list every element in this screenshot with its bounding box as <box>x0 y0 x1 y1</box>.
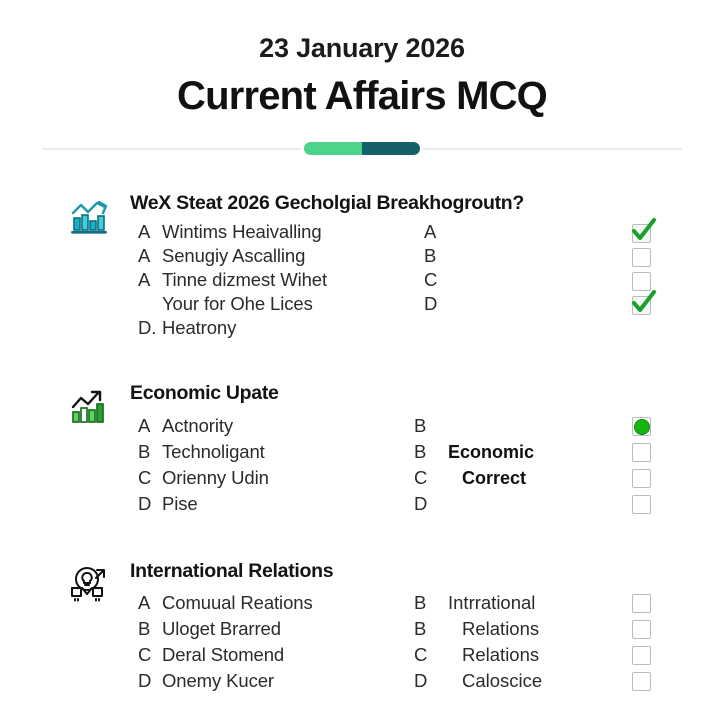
questions-list: WeX Steat 2026 Gecholgial Breakhogroutn?… <box>0 192 724 695</box>
answer-letter: B <box>414 439 448 465</box>
answer-row: C Relations <box>414 642 632 668</box>
growth-arrow-bars-icon <box>66 384 112 430</box>
option-row[interactable]: D Pise <box>138 491 408 517</box>
checkbox-row[interactable] <box>632 293 676 317</box>
option-row[interactable]: B Uloget Brarred <box>138 616 408 642</box>
option-text: Your for Ohe Lices <box>162 292 313 316</box>
option-row[interactable]: A Tinne dizmest Wihet <box>138 268 418 292</box>
answer-letter: B <box>414 413 448 439</box>
answer-checkbox-a[interactable] <box>632 594 651 613</box>
answer-checkbox-d[interactable] <box>632 495 651 514</box>
checkbox-row[interactable] <box>632 414 676 440</box>
option-text: Uloget Brarred <box>162 616 281 642</box>
answer-row: B <box>424 244 632 268</box>
answer-note: Relations <box>448 642 539 668</box>
question-block-3: International Relations A Comuual Reatio… <box>62 560 676 695</box>
answer-checkboxes <box>632 413 676 518</box>
option-letter: C <box>138 465 162 491</box>
checkbox-row[interactable] <box>632 617 676 643</box>
answer-letter: B <box>424 244 458 268</box>
answer-row: B Relations <box>414 616 632 642</box>
answer-checkboxes <box>632 220 676 340</box>
option-letter: A <box>138 220 162 244</box>
check-icon <box>630 216 658 244</box>
answer-checkbox-b[interactable] <box>632 443 651 462</box>
answer-row: D Caloscice <box>414 668 632 694</box>
option-letter: A <box>138 244 162 268</box>
option-text: Actnority <box>162 413 233 439</box>
option-letter: D <box>138 491 162 517</box>
page-date: 23 January 2026 <box>0 34 724 64</box>
checkbox-row[interactable] <box>632 221 676 245</box>
question-title: International Relations <box>130 560 676 582</box>
answer-row: C Correct <box>414 465 632 491</box>
global-idea-handshake-icon <box>66 562 112 608</box>
option-letter: D. <box>138 316 162 340</box>
question-title: Economic Upate <box>130 382 676 404</box>
checkbox-row[interactable] <box>632 643 676 669</box>
question-options: A Actnority B Technoligant C Orienny Udi… <box>130 413 408 518</box>
page-title: Current Affairs MCQ <box>0 74 724 118</box>
option-text: Onemy Kucer <box>162 668 274 694</box>
option-text: Comuual Reations <box>162 590 313 616</box>
option-row[interactable]: A Actnority <box>138 413 408 439</box>
answer-row: B Economic <box>414 439 632 465</box>
option-text: Senugiy Ascalling <box>162 244 305 268</box>
answer-checkbox-b[interactable] <box>632 620 651 639</box>
option-text: Heatrony <box>162 316 236 340</box>
answer-note: Caloscice <box>448 668 542 694</box>
answer-letter: C <box>414 642 448 668</box>
question-block-1: WeX Steat 2026 Gecholgial Breakhogroutn?… <box>62 192 676 340</box>
option-row[interactable]: D Onemy Kucer <box>138 668 408 694</box>
option-text: Deral Stomend <box>162 642 284 668</box>
option-letter: B <box>138 616 162 642</box>
option-letter: D <box>138 668 162 694</box>
option-row[interactable]: A Comuual Reations <box>138 590 408 616</box>
option-row[interactable]: A Senugiy Ascalling <box>138 244 418 268</box>
option-letter: A <box>138 590 162 616</box>
answer-note: Economic <box>448 439 534 465</box>
answer-row: D <box>414 491 632 517</box>
question-body: A Actnority B Technoligant C Orienny Udi… <box>130 413 676 518</box>
answer-checkbox-b[interactable] <box>632 248 651 267</box>
page-header: 23 January 2026 Current Affairs MCQ <box>0 0 724 118</box>
option-text: Tinne dizmest Wihet <box>162 268 327 292</box>
option-row[interactable]: Your for Ohe Lices <box>138 292 418 316</box>
answer-row: B Intrrational <box>414 590 632 616</box>
answer-letter: D <box>414 668 448 694</box>
option-letter: C <box>138 642 162 668</box>
bar-chart-growth-icon <box>66 194 112 240</box>
question-options: A Wintims Heaivalling A Senugiy Ascallin… <box>130 220 418 340</box>
question-body: A Comuual Reations B Uloget Brarred C De… <box>130 590 676 695</box>
answer-row: C <box>424 268 632 292</box>
option-letter: A <box>138 413 162 439</box>
answer-letter: C <box>414 465 448 491</box>
question-body: A Wintims Heaivalling A Senugiy Ascallin… <box>130 220 676 340</box>
checkbox-row[interactable] <box>632 245 676 269</box>
option-row[interactable]: B Technoligant <box>138 439 408 465</box>
answer-checkbox-d[interactable] <box>632 296 651 315</box>
answer-letter: B <box>414 616 448 642</box>
checkbox-row[interactable] <box>632 492 676 518</box>
answer-radio-selected[interactable] <box>632 417 651 436</box>
header-divider <box>0 142 724 156</box>
answer-row: B <box>414 413 632 439</box>
answer-note: Correct <box>448 465 526 491</box>
divider-segment-right <box>362 142 420 155</box>
option-letter: B <box>138 439 162 465</box>
check-icon <box>630 288 658 316</box>
answer-checkboxes <box>632 590 676 695</box>
option-text: Wintims Heaivalling <box>162 220 322 244</box>
radio-dot-fill <box>634 419 650 435</box>
answer-checkbox-c[interactable] <box>632 646 651 665</box>
answer-note: Relations <box>448 616 539 642</box>
answer-letter: A <box>424 220 458 244</box>
option-row[interactable]: A Wintims Heaivalling <box>138 220 418 244</box>
answer-letters: B Intrrational B Relations C Relations D… <box>408 590 632 695</box>
answer-letter: C <box>424 268 458 292</box>
answer-letters: B B Economic C Correct D <box>408 413 632 518</box>
option-row[interactable]: C Orienny Udin <box>138 465 408 491</box>
option-text: Orienny Udin <box>162 465 269 491</box>
answer-note: Intrrational <box>448 590 535 616</box>
option-letter: A <box>138 268 162 292</box>
answer-letter: B <box>414 590 448 616</box>
answer-checkbox-a[interactable] <box>632 224 651 243</box>
answer-checkbox-d[interactable] <box>632 672 651 691</box>
answer-row: A <box>424 220 632 244</box>
divider-pill <box>304 142 420 155</box>
option-text: Pise <box>162 491 198 517</box>
checkbox-row[interactable] <box>632 466 676 492</box>
answer-letter: D <box>424 292 458 316</box>
answer-letter: D <box>414 491 448 517</box>
option-row[interactable]: D. Heatrony <box>138 316 418 340</box>
answer-row: D <box>424 292 632 316</box>
checkbox-row[interactable] <box>632 440 676 466</box>
question-title: WeX Steat 2026 Gecholgial Breakhogroutn? <box>130 192 676 214</box>
option-text: Technoligant <box>162 439 265 465</box>
question-block-2: Economic Upate A Actnority B Technoligan… <box>62 382 676 517</box>
answer-checkbox-c[interactable] <box>632 469 651 488</box>
divider-segment-left <box>304 142 362 155</box>
checkbox-row[interactable] <box>632 669 676 695</box>
checkbox-row[interactable] <box>632 591 676 617</box>
question-options: A Comuual Reations B Uloget Brarred C De… <box>130 590 408 695</box>
option-row[interactable]: C Deral Stomend <box>138 642 408 668</box>
answer-letters: A B C D <box>418 220 632 340</box>
